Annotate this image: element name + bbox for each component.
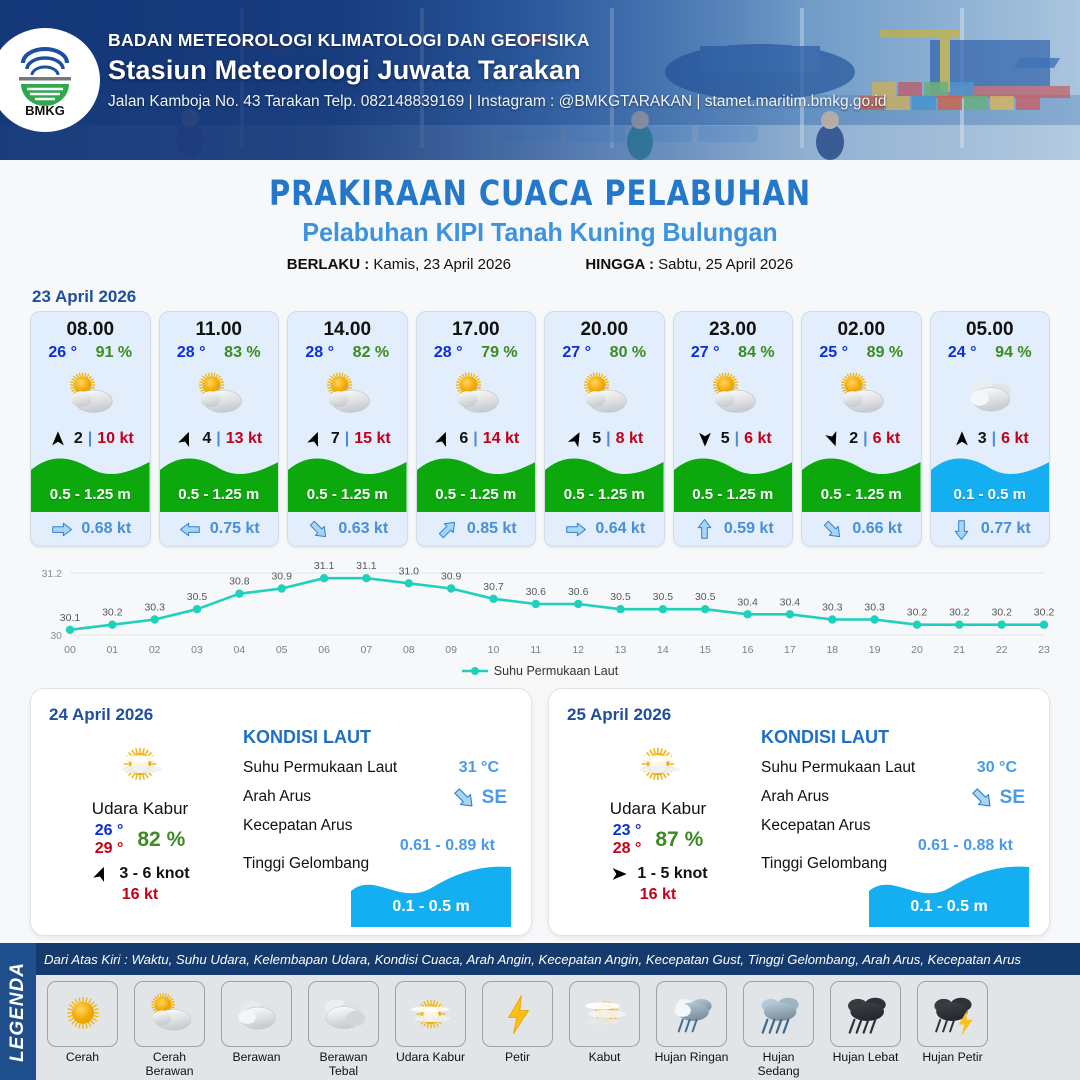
legend-item-label: Petir	[479, 1050, 556, 1064]
weather-cerah-icon	[47, 981, 118, 1047]
svg-text:31.2: 31.2	[42, 568, 63, 580]
sst-value: 31 °C	[459, 759, 499, 777]
svg-text:11: 11	[530, 644, 541, 656]
current-direction-icon	[820, 517, 845, 542]
panel-temp-max: 29 °	[95, 840, 124, 858]
svg-text:09: 09	[445, 644, 457, 656]
card-gust: 14 kt	[483, 430, 519, 448]
legend-item-label: Hujan Ringan	[653, 1050, 730, 1064]
weather-udara-kabur-icon	[563, 733, 753, 795]
card-time: 11.00	[160, 312, 279, 341]
card-wave-height: 0.5 - 1.25 m	[417, 486, 536, 503]
card-temperature: 27 °	[691, 344, 720, 362]
svg-text:08: 08	[403, 644, 415, 656]
current-speed-label: Kecepatan Arus	[243, 817, 352, 834]
weather-hujan-sedang-icon	[743, 981, 814, 1047]
panel-humidity: 82 %	[137, 828, 185, 852]
card-wave-height: 0.1 - 0.5 m	[931, 486, 1050, 503]
svg-text:02: 02	[149, 644, 161, 656]
card-time: 14.00	[288, 312, 407, 341]
svg-text:12: 12	[572, 644, 584, 656]
legend-item-label: Hujan Petir	[914, 1050, 991, 1064]
weather-berawan-icon	[221, 981, 292, 1047]
bmkg-logo-text: BMKG	[25, 103, 65, 118]
weather-cerah-berawan-icon	[160, 362, 279, 428]
panel-gust: 16 kt	[563, 886, 753, 904]
svg-text:00: 00	[64, 644, 76, 656]
current-direction-icon	[968, 784, 996, 812]
card-wave: 0.5 - 1.25 m	[417, 450, 536, 512]
panel-condition: Udara Kabur	[45, 799, 235, 819]
card-wind-speed: 5	[721, 430, 730, 448]
card-wave: 0.5 - 1.25 m	[674, 450, 793, 512]
page-title: PRAKIRAAN CUACA PELABUHAN	[43, 174, 1037, 214]
legend-item: Udara Kabur	[392, 981, 469, 1080]
card-wind-speed: 2	[74, 430, 83, 448]
weather-cerah-berawan-icon	[288, 362, 407, 428]
current-speed-label: Kecepatan Arus	[761, 817, 870, 834]
card-current-speed: 0.75 kt	[210, 520, 260, 538]
legend-item: Kabut	[566, 981, 643, 1080]
legend-item-label: Hujan Sedang	[740, 1050, 817, 1078]
card-time: 08.00	[31, 312, 150, 341]
station-name: Stasiun Meteorologi Juwata Tarakan	[108, 55, 887, 86]
panel-temp-max: 28 °	[613, 840, 642, 858]
card-wave: 0.5 - 1.25 m	[545, 450, 664, 512]
current-direction-icon	[563, 517, 588, 542]
card-temperature: 24 °	[948, 344, 977, 362]
card-wave-height: 0.5 - 1.25 m	[160, 486, 279, 503]
chart-legend-marker	[462, 666, 488, 676]
card-time: 17.00	[417, 312, 536, 341]
svg-text:30.7: 30.7	[483, 581, 504, 593]
weather-cerah-berawan-icon	[674, 362, 793, 428]
title-block: PRAKIRAAN CUACA PELABUHAN Pelabuhan KIPI…	[0, 160, 1080, 273]
panel-temp-min: 26 °	[95, 822, 124, 840]
legend-item: Hujan Lebat	[827, 981, 904, 1080]
svg-text:31.1: 31.1	[314, 560, 335, 572]
svg-text:30.2: 30.2	[907, 607, 928, 619]
svg-text:30.2: 30.2	[1034, 607, 1055, 619]
hourly-card: 17.00 28 ° 79 % 6 | 14 kt	[416, 311, 537, 547]
svg-text:21: 21	[953, 644, 965, 656]
current-direction-label: Arah Arus	[761, 788, 829, 805]
svg-text:30.2: 30.2	[991, 607, 1012, 619]
card-wave: 0.1 - 0.5 m	[931, 450, 1050, 512]
card-humidity: 79 %	[481, 344, 517, 362]
wind-direction-icon	[951, 430, 973, 448]
wind-direction-icon	[565, 430, 587, 448]
weather-cerah-berawan-icon	[802, 362, 921, 428]
card-gust: 15 kt	[354, 430, 390, 448]
legend-note: Dari Atas Kiri : Waktu, Suhu Udara, Kele…	[36, 943, 1080, 975]
panel-humidity: 87 %	[655, 828, 703, 852]
panel-date: 24 April 2026	[49, 705, 153, 725]
svg-text:03: 03	[191, 644, 203, 656]
card-temperature: 28 °	[434, 344, 463, 362]
svg-text:13: 13	[615, 644, 627, 656]
hourly-card: 02.00 25 ° 89 % 2 | 6 kt	[801, 311, 922, 547]
svg-text:04: 04	[234, 644, 246, 656]
card-wind-speed: 3	[978, 430, 987, 448]
sst-label: Suhu Permukaan Laut	[761, 759, 915, 776]
svg-text:30.3: 30.3	[144, 602, 165, 614]
card-current-speed: 0.66 kt	[852, 520, 902, 538]
card-humidity: 91 %	[96, 344, 132, 362]
card-wave-height: 0.5 - 1.25 m	[802, 486, 921, 503]
svg-text:30.1: 30.1	[60, 612, 81, 624]
current-direction-icon	[435, 517, 460, 542]
card-wind-speed: 5	[592, 430, 601, 448]
card-gust: 6 kt	[1001, 430, 1029, 448]
card-humidity: 80 %	[610, 344, 646, 362]
weather-hujan-ringan-icon	[656, 981, 727, 1047]
weather-hujan-lebat-icon	[830, 981, 901, 1047]
hourly-date: 23 April 2026	[32, 287, 1080, 307]
legend-item-label: Berawan Tebal	[305, 1050, 382, 1078]
sst-chart: 31.23030.10030.20130.30230.50330.80430.9…	[18, 555, 1062, 663]
svg-text:06: 06	[318, 644, 330, 656]
panel-wave: 0.1 - 0.5 m	[351, 865, 511, 927]
card-wave: 0.5 - 1.25 m	[31, 450, 150, 512]
svg-text:30.4: 30.4	[780, 596, 801, 608]
legend-item-label: Hujan Lebat	[827, 1050, 904, 1064]
legend-item-label: Kabut	[566, 1050, 643, 1064]
weather-cerah-berawan-icon	[545, 362, 664, 428]
svg-text:14: 14	[657, 644, 669, 656]
svg-text:30.9: 30.9	[441, 571, 462, 583]
hourly-card: 11.00 28 ° 83 % 4 | 13 kt	[159, 311, 280, 547]
sea-condition-title: KONDISI LAUT	[243, 727, 517, 748]
svg-text:31.0: 31.0	[399, 565, 420, 577]
wind-direction-icon	[608, 865, 630, 883]
berlaku-label: BERLAKU :	[287, 256, 370, 273]
wave-height-value: 0.1 - 0.5 m	[869, 898, 1029, 916]
legend-item: Cerah	[44, 981, 121, 1080]
card-gust: 8 kt	[616, 430, 644, 448]
panel-wave: 0.1 - 0.5 m	[869, 865, 1029, 927]
panel-condition: Udara Kabur	[563, 799, 753, 819]
current-speed-value: 0.61 - 0.88 kt	[918, 837, 1013, 855]
legend-item: Berawan	[218, 981, 295, 1080]
svg-text:05: 05	[276, 644, 288, 656]
card-current-speed: 0.77 kt	[981, 520, 1031, 538]
legend-item-label: Udara Kabur	[392, 1050, 469, 1064]
hourly-card: 05.00 24 ° 94 % 3 | 6 kt	[930, 311, 1051, 547]
current-direction-value: SE	[1000, 787, 1025, 809]
weather-cerah-berawan-icon	[417, 362, 536, 428]
card-humidity: 83 %	[224, 344, 260, 362]
current-direction-label: Arah Arus	[243, 788, 311, 805]
svg-text:30.5: 30.5	[187, 591, 208, 603]
legend-item: Cerah Berawan	[131, 981, 208, 1080]
svg-text:30.8: 30.8	[229, 576, 250, 588]
hourly-card: 08.00 26 ° 91 % 2 | 10 kt	[30, 311, 151, 547]
card-temperature: 26 °	[48, 344, 77, 362]
weather-udara-kabur-icon	[45, 733, 235, 795]
card-wave-height: 0.5 - 1.25 m	[31, 486, 150, 503]
hourly-card: 23.00 27 ° 84 % 5 | 6 kt	[673, 311, 794, 547]
svg-text:30.5: 30.5	[610, 591, 631, 603]
svg-text:19: 19	[869, 644, 881, 656]
current-speed-value: 0.61 - 0.89 kt	[400, 837, 495, 855]
wind-direction-icon	[694, 430, 716, 448]
card-current-speed: 0.85 kt	[467, 520, 517, 538]
current-direction-icon	[692, 517, 717, 542]
svg-text:22: 22	[996, 644, 1008, 656]
legend-item: Hujan Sedang	[740, 981, 817, 1080]
card-humidity: 84 %	[738, 344, 774, 362]
current-direction-icon	[178, 517, 203, 542]
current-direction-icon	[49, 517, 74, 542]
panel-gust: 16 kt	[45, 886, 235, 904]
daily-panels: 24 April 2026 Udara Kabur 26 ° 29 ° 82 %	[0, 678, 1080, 936]
svg-text:30.9: 30.9	[271, 571, 292, 583]
card-gust: 13 kt	[226, 430, 262, 448]
svg-text:16: 16	[742, 644, 754, 656]
card-gust: 10 kt	[97, 430, 133, 448]
card-current-speed: 0.64 kt	[595, 520, 645, 538]
weather-berawan-tebal-icon	[308, 981, 379, 1047]
svg-text:30.2: 30.2	[102, 607, 123, 619]
current-direction-value: SE	[482, 787, 507, 809]
svg-text:17: 17	[784, 644, 796, 656]
svg-text:30.3: 30.3	[864, 602, 885, 614]
bmkg-logo-icon: BMKG	[7, 42, 83, 118]
daily-panel: 24 April 2026 Udara Kabur 26 ° 29 ° 82 %	[30, 688, 532, 936]
daily-panel: 25 April 2026 Udara Kabur 23 ° 28 ° 87 %	[548, 688, 1050, 936]
legend-item: Berawan Tebal	[305, 981, 382, 1080]
svg-text:07: 07	[361, 644, 373, 656]
card-time: 02.00	[802, 312, 921, 341]
card-wind-speed: 4	[202, 430, 211, 448]
wind-direction-icon	[90, 865, 112, 883]
weather-udara-kabur-icon	[395, 981, 466, 1047]
hourly-card: 14.00 28 ° 82 % 7 | 15 kt	[287, 311, 408, 547]
legend-strip: LEGENDA Dari Atas Kiri : Waktu, Suhu Uda…	[0, 943, 1080, 1080]
card-temperature: 28 °	[177, 344, 206, 362]
wind-direction-icon	[432, 430, 454, 448]
sst-chart-svg: 31.23030.10030.20130.30230.50330.80430.9…	[18, 555, 1062, 663]
legend-item: Hujan Ringan	[653, 981, 730, 1080]
panel-wind-range: 1 - 5 knot	[637, 865, 707, 883]
card-current-speed: 0.59 kt	[724, 520, 774, 538]
weather-petir-icon	[482, 981, 553, 1047]
card-humidity: 94 %	[995, 344, 1031, 362]
card-wind-speed: 7	[331, 430, 340, 448]
svg-text:30.5: 30.5	[695, 591, 716, 603]
wind-direction-icon	[47, 430, 69, 448]
svg-text:01: 01	[106, 644, 118, 656]
wind-direction-icon	[175, 430, 197, 448]
card-temperature: 27 °	[562, 344, 591, 362]
card-wave-height: 0.5 - 1.25 m	[288, 486, 407, 503]
card-gust: 6 kt	[873, 430, 901, 448]
card-wave-height: 0.5 - 1.25 m	[674, 486, 793, 503]
weather-cerah-berawan-icon	[31, 362, 150, 428]
card-wind-speed: 6	[459, 430, 468, 448]
svg-text:15: 15	[699, 644, 711, 656]
page-header: BMKG BADAN METEOROLOGI KLIMATOLOGI DAN G…	[0, 0, 1080, 160]
hingga-label: HINGGA :	[585, 256, 654, 273]
svg-text:30.6: 30.6	[568, 586, 589, 598]
svg-text:30: 30	[50, 630, 62, 642]
legend-item-label: Cerah Berawan	[131, 1050, 208, 1078]
hingga-value: Sabtu, 25 April 2026	[658, 256, 793, 273]
legend-item-label: Berawan	[218, 1050, 295, 1064]
legend-item: Petir	[479, 981, 556, 1080]
svg-text:30.2: 30.2	[949, 607, 970, 619]
svg-text:30.3: 30.3	[822, 602, 843, 614]
legend-item-label: Cerah	[44, 1050, 121, 1064]
svg-text:10: 10	[488, 644, 500, 656]
berlaku-value: Kamis, 23 April 2026	[373, 256, 511, 273]
panel-temp-min: 23 °	[613, 822, 642, 840]
svg-text:23: 23	[1038, 644, 1050, 656]
sst-value: 30 °C	[977, 759, 1017, 777]
legend-items: Cerah Cerah Berawan Berawan	[36, 975, 1080, 1080]
wind-direction-icon	[822, 430, 844, 448]
card-gust: 6 kt	[744, 430, 772, 448]
legend-item: Hujan Petir	[914, 981, 991, 1080]
page-subtitle: Pelabuhan KIPI Tanah Kuning Bulungan	[22, 217, 1059, 248]
sst-label: Suhu Permukaan Laut	[243, 759, 397, 776]
card-wave-height: 0.5 - 1.25 m	[545, 486, 664, 503]
current-direction-icon	[949, 517, 974, 542]
card-wave: 0.5 - 1.25 m	[802, 450, 921, 512]
card-temperature: 25 °	[819, 344, 848, 362]
card-time: 20.00	[545, 312, 664, 341]
card-wave: 0.5 - 1.25 m	[160, 450, 279, 512]
current-direction-icon	[450, 784, 478, 812]
card-time: 05.00	[931, 312, 1050, 341]
svg-text:30.6: 30.6	[526, 586, 547, 598]
card-wave: 0.5 - 1.25 m	[288, 450, 407, 512]
card-time: 23.00	[674, 312, 793, 341]
svg-text:20: 20	[911, 644, 923, 656]
card-humidity: 82 %	[353, 344, 389, 362]
validity-row: BERLAKU : Kamis, 23 April 2026 HINGGA : …	[0, 256, 1080, 273]
card-wind-speed: 2	[849, 430, 858, 448]
chart-legend: Suhu Permukaan Laut	[0, 664, 1080, 678]
svg-text:30.4: 30.4	[737, 596, 758, 608]
legend-side-label: LEGENDA	[0, 943, 36, 1080]
panel-wind-range: 3 - 6 knot	[119, 865, 189, 883]
weather-berawan-icon	[931, 362, 1050, 428]
hourly-cards: 08.00 26 ° 91 % 2 | 10 kt	[0, 311, 1080, 547]
wave-height-value: 0.1 - 0.5 m	[351, 898, 511, 916]
current-direction-icon	[306, 517, 331, 542]
wind-direction-icon	[304, 430, 326, 448]
svg-text:31.1: 31.1	[356, 560, 377, 572]
card-humidity: 89 %	[867, 344, 903, 362]
contact-info: Jalan Kamboja No. 43 Tarakan Telp. 08214…	[108, 93, 887, 111]
weather-kabut-icon	[569, 981, 640, 1047]
chart-legend-label: Suhu Permukaan Laut	[494, 664, 618, 678]
card-current-speed: 0.68 kt	[81, 520, 131, 538]
card-temperature: 28 °	[305, 344, 334, 362]
hourly-card: 20.00 27 ° 80 % 5 | 8 kt	[544, 311, 665, 547]
card-current-speed: 0.63 kt	[338, 520, 388, 538]
weather-cerah-berawan-icon	[134, 981, 205, 1047]
panel-date: 25 April 2026	[567, 705, 671, 725]
agency-name: BADAN METEOROLOGI KLIMATOLOGI DAN GEOFIS…	[108, 30, 887, 51]
weather-hujan-petir-icon	[917, 981, 988, 1047]
sea-condition-title: KONDISI LAUT	[761, 727, 1035, 748]
svg-text:18: 18	[826, 644, 838, 656]
svg-text:30.5: 30.5	[653, 591, 674, 603]
